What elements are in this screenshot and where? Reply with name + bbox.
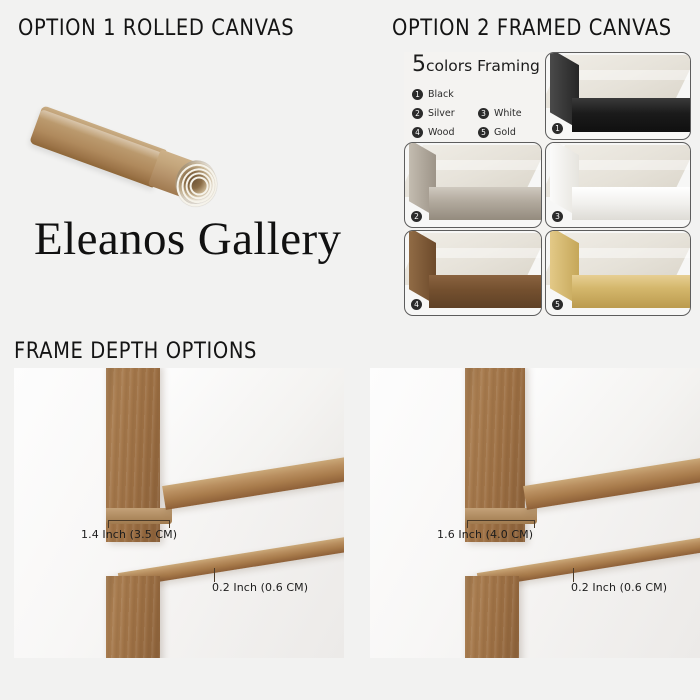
- profile-depth-label-right: 0.2 Inch (0.6 CM): [571, 581, 667, 594]
- profile-depth-label-left: 0.2 Inch (0.6 CM): [212, 581, 308, 594]
- frame-thin-stile: [106, 576, 160, 658]
- frame-depth-heading: FRAME DEPTH OPTIONS: [14, 338, 257, 364]
- depth-dimension-bracket: [467, 520, 535, 527]
- legend-label-silver: Silver: [428, 108, 455, 119]
- tube-body: [29, 105, 167, 188]
- option-2-heading: OPTION 2 FRAMED CANVAS: [392, 15, 672, 41]
- number-badge-4: 4: [412, 127, 423, 138]
- legend-count: 5: [412, 52, 426, 77]
- legend-label-black: Black: [428, 89, 454, 100]
- number-badge-3: 3: [478, 108, 489, 119]
- legend-item-gold: 5 Gold: [478, 127, 544, 138]
- frame-depth-label-left: 1.4 Inch (3.5 CM): [81, 528, 177, 541]
- legend-row: 4 Wood 5 Gold: [412, 127, 552, 138]
- frame-sample-silver: 2: [404, 142, 542, 228]
- frame-sample-white: 3: [545, 142, 691, 228]
- legend-label-white: White: [494, 108, 522, 119]
- frame-sample-badge-4: 4: [411, 299, 422, 310]
- number-badge-2: 2: [412, 108, 423, 119]
- frame-sample-gold: 5: [545, 230, 691, 316]
- product-infographic: OPTION 1 ROLLED CANVAS OPTION 2 FRAMED C…: [0, 0, 700, 700]
- frame-depth-label-right: 1.6 Inch (4.0 CM): [437, 528, 533, 541]
- frame-sample-wood: 4: [404, 230, 542, 316]
- frame-front-rail: [429, 275, 542, 309]
- framed-canvas-options: 5colors Framing 1 Black 2 Silver 3: [404, 52, 689, 314]
- frame-sample-badge-1: 1: [552, 123, 563, 134]
- frame-depth-photo-left: 1.4 Inch (3.5 CM) 0.2 Inch (0.6 CM): [14, 368, 344, 658]
- rolled-canvas-tube-image: [30, 52, 225, 192]
- number-badge-5: 5: [478, 127, 489, 138]
- frame-sample-black: 1: [545, 52, 691, 140]
- legend-item-white: 3 White: [478, 108, 544, 119]
- brand-wordmark: Eleanos Gallery: [34, 212, 341, 266]
- legend-item-silver: 2 Silver: [412, 108, 478, 119]
- legend-item-black: 1 Black: [412, 89, 478, 100]
- frame-sample-badge-5: 5: [552, 299, 563, 310]
- frame-front-rail: [572, 187, 691, 221]
- legend-title: 5colors Framing: [412, 54, 552, 76]
- depth-dimension-bracket: [108, 520, 170, 527]
- legend-row: 2 Silver 3 White: [412, 108, 552, 119]
- framing-colors-legend: 5colors Framing 1 Black 2 Silver 3: [412, 54, 552, 146]
- legend-label-wood: Wood: [428, 127, 455, 138]
- profile-dimension-tick: [214, 568, 215, 582]
- option-1-heading: OPTION 1 ROLLED CANVAS: [18, 15, 294, 41]
- legend-item-wood: 4 Wood: [412, 127, 478, 138]
- frame-thin-stile: [465, 576, 519, 658]
- number-badge-1: 1: [412, 89, 423, 100]
- tube-graphic: [29, 105, 210, 203]
- legend-title-text: colors Framing: [426, 57, 540, 75]
- frame-sample-badge-3: 3: [552, 211, 563, 222]
- legend-row: 1 Black: [412, 89, 552, 100]
- frame-sample-badge-2: 2: [411, 211, 422, 222]
- frame-front-rail: [429, 187, 542, 221]
- frame-front-rail: [572, 98, 691, 132]
- legend-label-gold: Gold: [494, 127, 516, 138]
- frame-front-rail: [572, 275, 691, 309]
- frame-depth-photo-right: 1.6 Inch (4.0 CM) 0.2 Inch (0.6 CM): [370, 368, 700, 658]
- profile-dimension-tick: [573, 568, 574, 582]
